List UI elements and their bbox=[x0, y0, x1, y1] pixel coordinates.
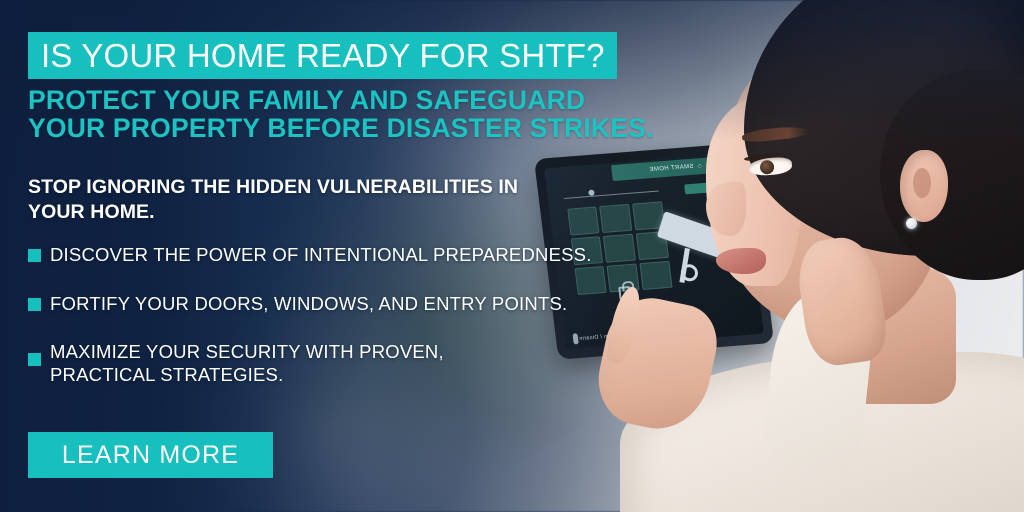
list-item-label: DISCOVER THE POWER OF INTENTIONAL PREPAR… bbox=[50, 244, 592, 267]
headline-banner: IS YOUR HOME READY FOR SHTF? bbox=[28, 32, 617, 79]
list-item: FORTIFY YOUR DOORS, WINDOWS, AND ENTRY P… bbox=[28, 293, 628, 316]
bullet-square-icon bbox=[28, 353, 41, 366]
list-item-label: FORTIFY YOUR DOORS, WINDOWS, AND ENTRY P… bbox=[50, 293, 567, 316]
learn-more-label: LEARN MORE bbox=[62, 443, 239, 468]
lede-text: STOP IGNORING THE HIDDEN VULNERABILITIES… bbox=[28, 175, 518, 225]
headline-text: IS YOUR HOME READY FOR SHTF? bbox=[41, 39, 605, 72]
list-item: DISCOVER THE POWER OF INTENTIONAL PREPAR… bbox=[28, 244, 628, 267]
promo-banner: ⌂ SMART HOME bbox=[0, 0, 1024, 512]
list-item: MAXIMIZE YOUR SECURITY WITH PROVEN, PRAC… bbox=[28, 341, 628, 386]
benefit-list: DISCOVER THE POWER OF INTENTIONAL PREPAR… bbox=[28, 244, 628, 412]
subheadline-text: PROTECT YOUR FAMILY AND SAFEGUARD YOUR P… bbox=[28, 86, 654, 143]
list-item-label: MAXIMIZE YOUR SECURITY WITH PROVEN, PRAC… bbox=[50, 341, 444, 386]
bullet-square-icon bbox=[28, 249, 41, 262]
learn-more-button[interactable]: LEARN MORE bbox=[28, 432, 273, 478]
bullet-square-icon bbox=[28, 298, 41, 311]
banner-content: IS YOUR HOME READY FOR SHTF? PROTECT YOU… bbox=[0, 0, 1024, 512]
